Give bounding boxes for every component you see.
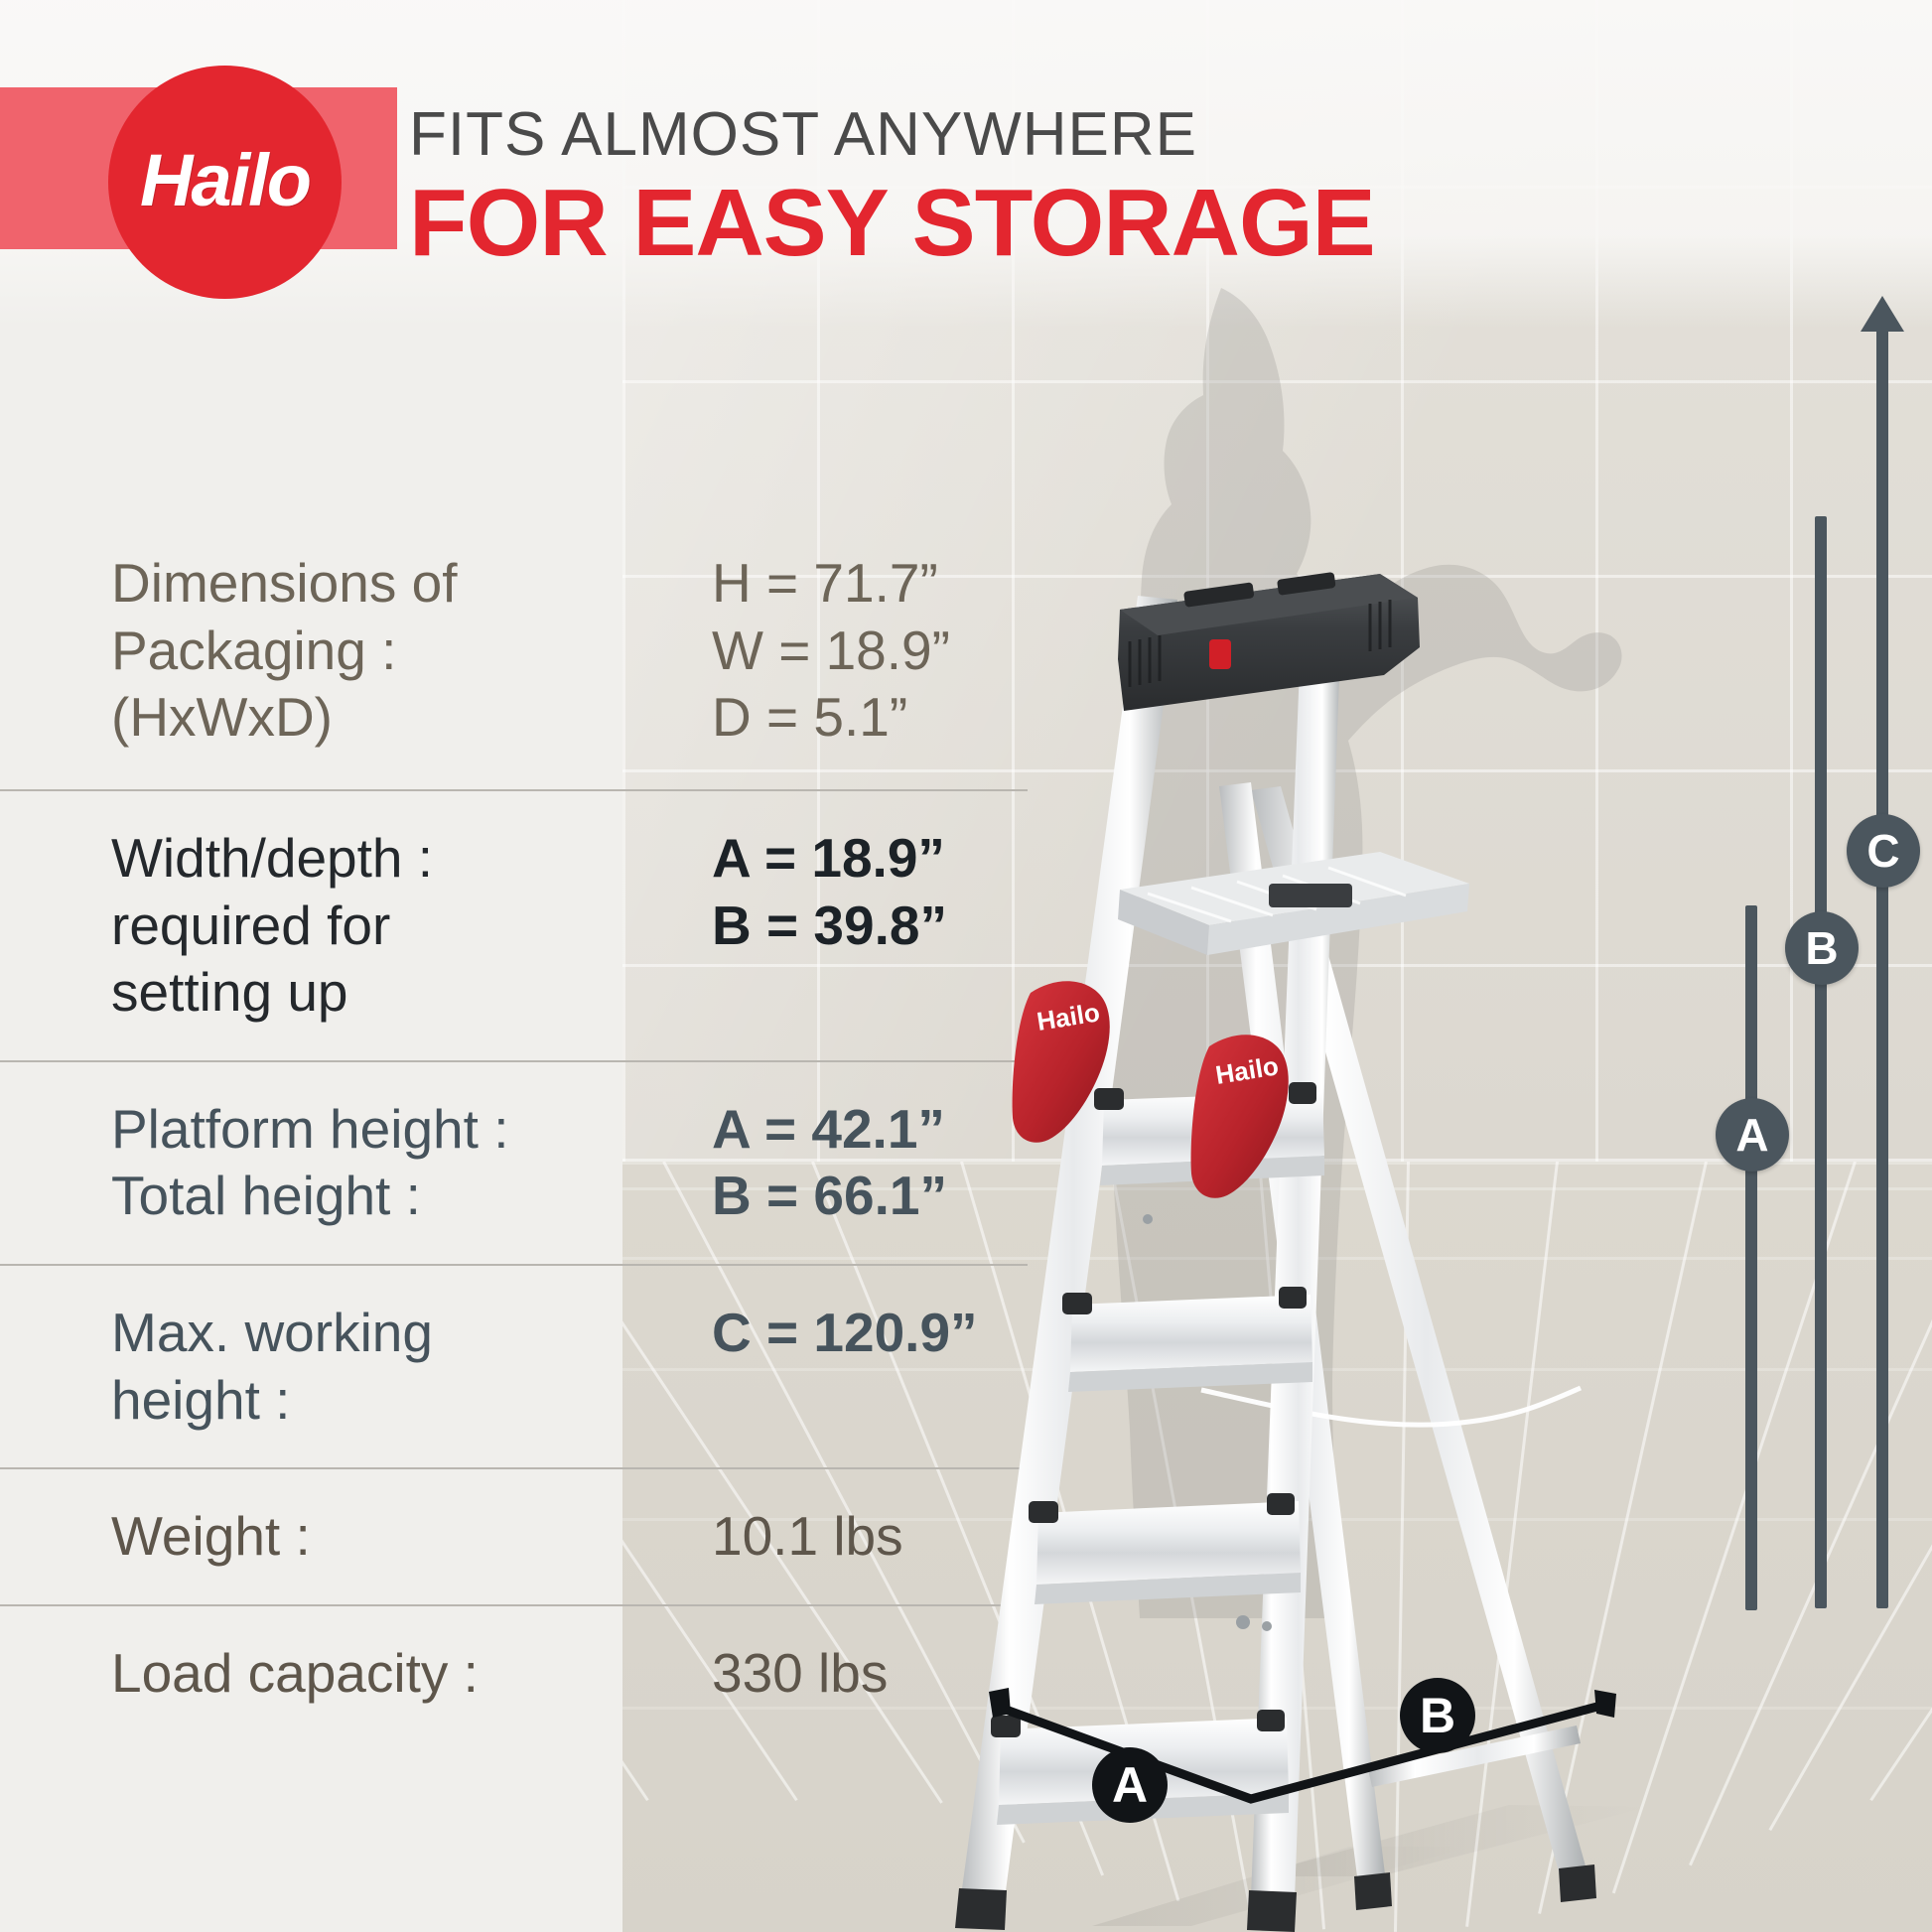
up-arrow-icon: [1861, 296, 1904, 332]
headline-primary: FITS ALMOST ANYWHERE: [409, 99, 1375, 170]
label-line: Total height :: [111, 1163, 622, 1230]
safety-cord: [1201, 1388, 1581, 1425]
table-row: Load capacity : 330 lbs: [0, 1604, 1028, 1741]
table-row: Weight : 10.1 lbs: [0, 1467, 1028, 1604]
table-row: Platform height : Total height : A = 42.…: [0, 1060, 1028, 1264]
headline-block: FITS ALMOST ANYWHERE FOR EASY STORAGE: [409, 99, 1375, 274]
label-line: setting up: [111, 959, 622, 1027]
footprint-marker-b: B: [1400, 1678, 1475, 1753]
label-line: required for: [111, 893, 622, 960]
spec-label-platform-total-height: Platform height : Total height :: [0, 1062, 622, 1264]
label-line: Platform height :: [111, 1096, 622, 1164]
specification-table: Dimensions of Packaging : (HxWxD) H = 71…: [0, 516, 1028, 1741]
ladder-platform: [1118, 852, 1469, 955]
label-line: height :: [111, 1367, 622, 1435]
label-line: Dimensions of: [111, 550, 622, 618]
spec-label-max-working-height: Max. working height :: [0, 1266, 622, 1467]
height-marker-c: C: [1847, 814, 1920, 888]
height-bar-c: C: [1839, 288, 1932, 1866]
label-line: Load capacity :: [111, 1640, 622, 1708]
table-row: Max. working height : C = 120.9”: [0, 1264, 1028, 1467]
tool-tray: [1118, 572, 1420, 711]
label-line: (HxWxD): [111, 684, 622, 752]
label-line: Weight :: [111, 1503, 622, 1571]
hailo-logo: Hailo: [108, 66, 342, 299]
footprint-marker-a: A: [1092, 1747, 1168, 1823]
spec-label-load-capacity: Load capacity :: [0, 1606, 622, 1741]
table-row: Dimensions of Packaging : (HxWxD) H = 71…: [0, 516, 1028, 789]
spec-label-width-depth: Width/depth : required for setting up: [0, 791, 622, 1060]
headline-secondary: FOR EASY STORAGE: [409, 174, 1375, 274]
spec-label-weight: Weight :: [0, 1469, 622, 1604]
logo-wordmark: Hailo: [140, 144, 310, 217]
label-line: Width/depth :: [111, 825, 622, 893]
footprint-measure-lines: [953, 1588, 1708, 1932]
table-row: Width/depth : required for setting up A …: [0, 789, 1028, 1060]
tray-brand-tab: [1209, 639, 1231, 669]
spec-label-packaging: Dimensions of Packaging : (HxWxD): [0, 516, 622, 785]
infographic-canvas: Hailo FITS ALMOST ANYWHERE FOR EASY STOR…: [0, 0, 1932, 1932]
label-line: Packaging :: [111, 618, 622, 685]
label-line: Max. working: [111, 1300, 622, 1367]
